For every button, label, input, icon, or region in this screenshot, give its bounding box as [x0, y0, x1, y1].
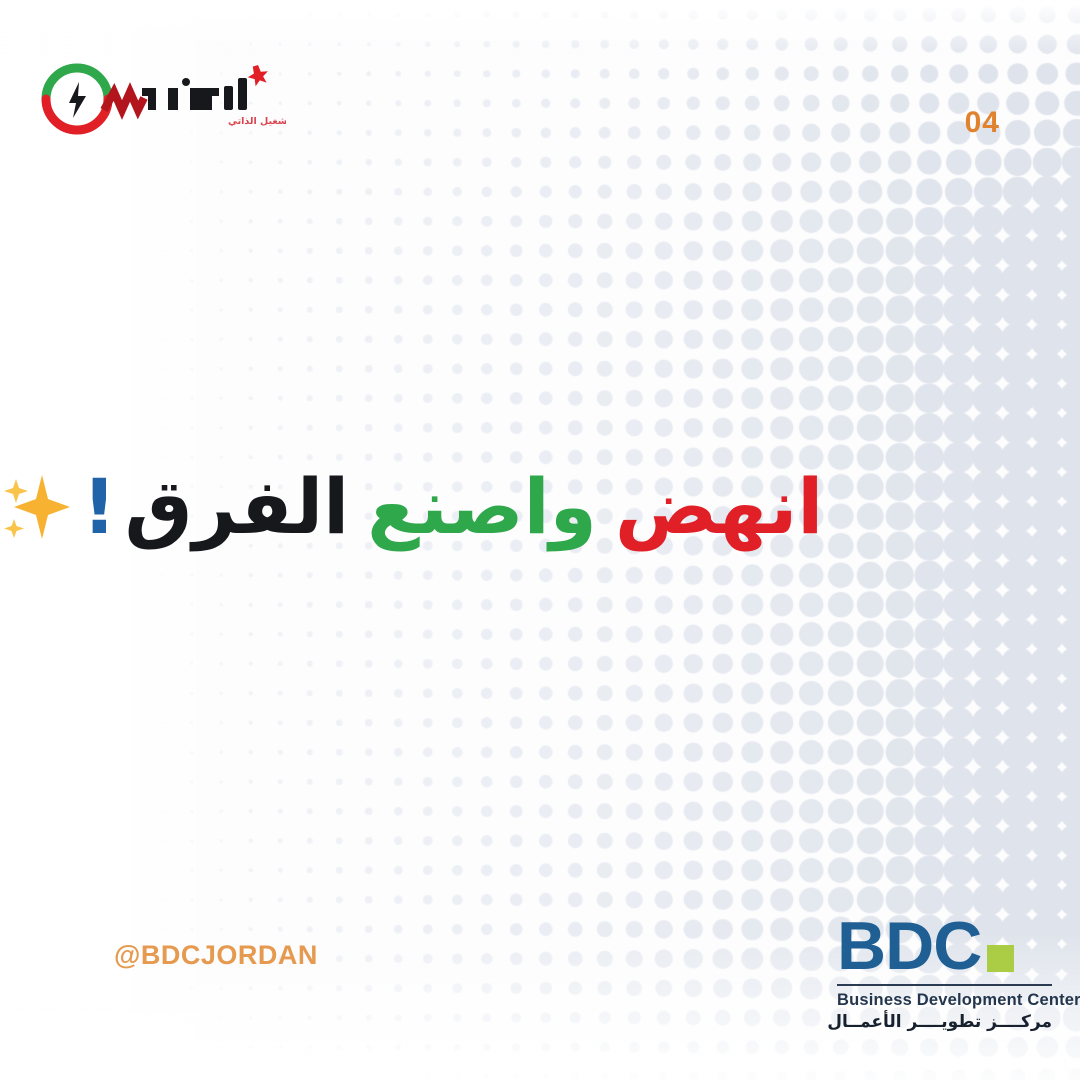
bdc-tagline-ar: مركــــز تطويــــر الأعمــال — [837, 1012, 1052, 1032]
bdc-square-dot — [987, 945, 1014, 972]
bdc-tagline-en: Business Development Center — [837, 991, 1052, 1010]
headline-word-black: الفرق — [125, 469, 350, 545]
bdc-letters: BDC — [837, 917, 981, 977]
page-number: 04 — [965, 106, 1000, 140]
lightning-bolt-icon — [69, 82, 86, 118]
headline: انهض واصنع الفرق ! — [0, 452, 1080, 562]
jordan-star-icon — [248, 65, 268, 86]
social-handle: @BDCJORDAN — [114, 940, 318, 971]
sparkles-icon — [0, 467, 72, 547]
bdc-logo: BDC Business Development Center مركــــز… — [837, 917, 1052, 1032]
nahd-logo: البرنامج الوطني للتشغيل الذاتي — [36, 58, 286, 140]
headline-word-green: واصنع — [367, 469, 597, 545]
bdc-divider — [837, 984, 1052, 986]
slide-canvas: البرنامج الوطني للتشغيل الذاتي 04 انهض و… — [0, 0, 1080, 1080]
headline-exclamation: ! — [82, 469, 117, 545]
logo-subtitle: البرنامج الوطني للتشغيل الذاتي — [228, 116, 286, 127]
top-fade-overlay — [0, 0, 1080, 60]
headline-word-red: انهض — [615, 469, 823, 545]
logo-wordmark — [142, 78, 247, 110]
bdc-mark: BDC — [837, 917, 1052, 977]
